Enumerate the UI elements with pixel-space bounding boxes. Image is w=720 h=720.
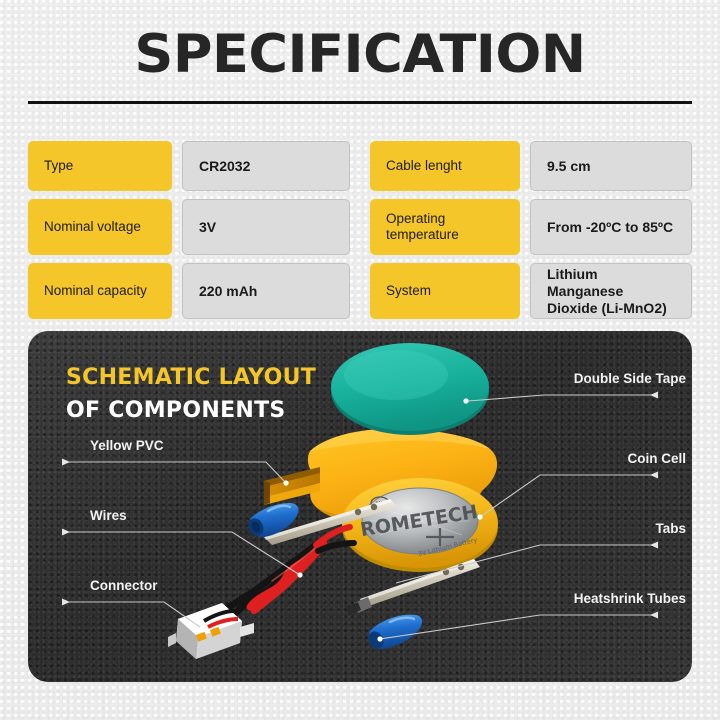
spec-key-line2: temperature <box>386 227 459 242</box>
spec-value-operating-temperature: From -20ºC to 85ºC <box>530 199 692 255</box>
spec-column-left: Type CR2032 Nominal voltage 3V <box>28 141 350 327</box>
spec-key-operating-temperature: Operating temperature <box>370 199 520 255</box>
coin-cell-battery: UL ROMETECH 3V Lithium Battery <box>342 478 498 572</box>
callout-label: Wires <box>90 508 127 523</box>
spec-key-label: Type <box>44 158 73 174</box>
callout-double-side-tape: Double Side Tape <box>486 364 686 395</box>
header-divider <box>28 101 692 104</box>
callout-heatshrink-tubes: Heatshrink Tubes <box>486 584 686 615</box>
callout-connector: Connector <box>90 571 290 602</box>
spec-value-system: Lithium Manganese Dioxide (Li-MnO2) <box>530 263 692 319</box>
spec-value-cable-lenght: 9.5 cm <box>530 141 692 191</box>
callout-label: Heatshrink Tubes <box>574 591 686 606</box>
spec-key-line2: capacity <box>97 283 147 298</box>
spec-value-nominal-voltage: 3V <box>182 199 350 255</box>
callout-label: Connector <box>90 578 158 593</box>
spec-key-label: Cable lenght <box>386 158 462 174</box>
spec-value-nominal-capacity: 220 mAh <box>182 263 350 319</box>
table-row: Cable lenght 9.5 cm <box>370 141 692 191</box>
schematic-panel: SCHEMATIC LAYOUT OF COMPONENTS <box>28 331 692 682</box>
table-row: Nominal capacity 220 mAh <box>28 263 350 319</box>
spec-value-label: 9.5 cm <box>547 158 591 175</box>
spec-key-nominal-voltage: Nominal voltage <box>28 199 172 255</box>
spec-value-type: CR2032 <box>182 141 350 191</box>
callout-label: Double Side Tape <box>574 371 686 386</box>
spec-value-label: From -20ºC to 85ºC <box>547 219 673 236</box>
spec-key-cable-lenght: Cable lenght <box>370 141 520 191</box>
spec-key-line1: Nominal <box>44 283 94 298</box>
spec-value-line2: Dioxide (Li-MnO2) <box>547 300 675 317</box>
page-title: SPECIFICATION <box>0 26 720 84</box>
spec-value-label: CR2032 <box>199 158 250 175</box>
table-row: Operating temperature From -20ºC to 85ºC <box>370 199 692 255</box>
table-row: System Lithium Manganese Dioxide (Li-MnO… <box>370 263 692 319</box>
spec-key-type: Type <box>28 141 172 191</box>
table-row: Nominal voltage 3V <box>28 199 350 255</box>
spec-key-nominal-capacity: Nominal capacity <box>28 263 172 319</box>
spec-key-line1: Operating <box>386 211 445 226</box>
spec-value-line1: Lithium Manganese <box>547 266 675 300</box>
spec-value-label: 220 mAh <box>199 283 257 300</box>
spec-value-label: 3V <box>199 219 216 236</box>
callout-label: Yellow PVC <box>90 438 164 453</box>
spec-column-right: Cable lenght 9.5 cm Operating temperatur… <box>370 141 692 327</box>
spec-key-label: System <box>386 283 431 299</box>
callout-yellow-pvc: Yellow PVC <box>90 431 290 462</box>
callout-wires: Wires <box>90 501 290 532</box>
spec-key-system: System <box>370 263 520 319</box>
spec-key-line2: voltage <box>97 219 141 234</box>
double-side-tape-disc <box>331 343 489 435</box>
callout-label: Tabs <box>655 521 686 536</box>
spec-sheet: SPECIFICATION Type CR2032 Nominal voltag… <box>0 0 720 720</box>
callout-label: Coin Cell <box>627 451 686 466</box>
callout-coin-cell: Coin Cell <box>486 444 686 475</box>
table-row: Type CR2032 <box>28 141 350 191</box>
heatshrink-tube-lower <box>365 615 422 652</box>
callout-tabs: Tabs <box>486 514 686 545</box>
spec-key-line1: Nominal <box>44 219 94 234</box>
